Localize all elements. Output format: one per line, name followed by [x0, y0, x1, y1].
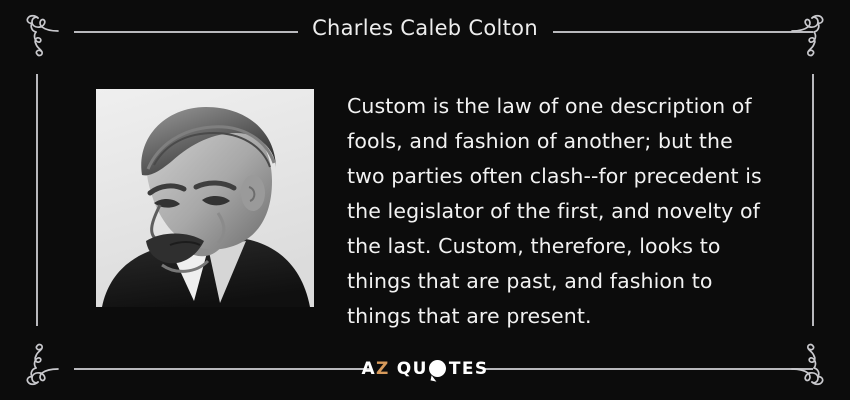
page-title: Charles Caleb Colton — [0, 16, 850, 40]
quote-card: Charles Caleb Colton — [0, 0, 850, 400]
frame-line-left — [36, 74, 38, 326]
logo-letters-tes: TES — [449, 358, 489, 380]
logo-letters-qu: QU — [397, 358, 428, 380]
speech-bubble-icon — [429, 360, 446, 377]
logo-letter-a: A — [361, 358, 376, 380]
frame-line-right — [812, 74, 814, 326]
azquotes-logo[interactable]: AZQUTES — [0, 357, 850, 379]
quote-text: Custom is the law of one description of … — [347, 89, 767, 334]
logo-letter-z: Z — [376, 358, 390, 380]
author-portrait — [96, 89, 314, 307]
